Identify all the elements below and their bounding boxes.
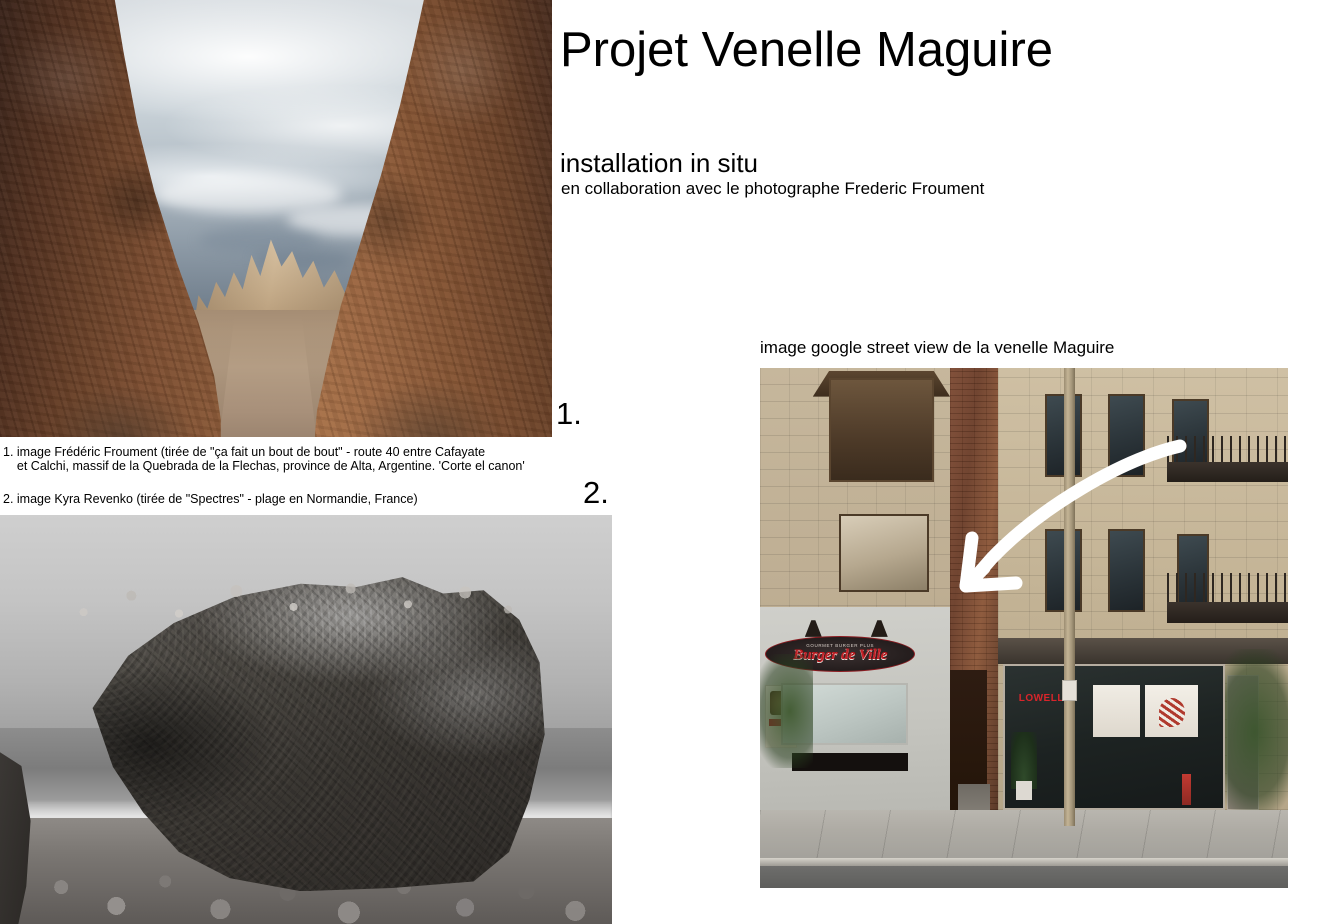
curb xyxy=(760,858,1288,866)
sidewalk-joints xyxy=(760,810,1288,862)
poster-page: 1. 1. image Frédéric Froument (tirée de … xyxy=(0,0,1320,924)
window xyxy=(1108,394,1145,477)
page-subtitle: installation in situ xyxy=(560,148,758,179)
balcony-slab xyxy=(1167,602,1288,623)
figure-2-caption: 2. image Kyra Revenko (tirée de "Spectre… xyxy=(3,492,418,506)
utility-pole xyxy=(1064,368,1076,826)
figure-1-caption: 1. image Frédéric Froument (tirée de "ça… xyxy=(3,445,525,473)
bay-window xyxy=(829,378,935,482)
window-display-panel xyxy=(1093,685,1141,737)
street-tree xyxy=(760,654,813,768)
boulder-crust xyxy=(55,566,532,631)
collaboration-line: en collaboration avec le photographe Fre… xyxy=(561,179,984,199)
artwork-motif xyxy=(1159,698,1185,727)
black-and-white-boulder-photo xyxy=(0,515,612,924)
plant-pot xyxy=(1016,781,1032,799)
google-street-view-photo: GOURMET BURGER PLUS Burger de Ville LOWE… xyxy=(760,368,1288,888)
streetview-label: image google street view de la venelle M… xyxy=(760,338,1114,358)
scree-slope xyxy=(353,380,508,437)
street-asphalt xyxy=(760,866,1288,888)
balcony-railing xyxy=(1167,573,1288,604)
figure-1-marker: 1. xyxy=(556,398,582,429)
page-title: Projet Venelle Maguire xyxy=(560,24,1053,78)
fire-hydrant xyxy=(1182,774,1190,805)
pole-sign xyxy=(1062,680,1077,701)
street-tree xyxy=(1225,649,1288,815)
balcony-slab xyxy=(1167,462,1288,483)
figure-2-marker: 2. xyxy=(583,477,609,508)
canyon-road-photo xyxy=(0,0,552,437)
scree-slope xyxy=(50,385,194,437)
window xyxy=(1108,529,1145,612)
window xyxy=(839,514,929,592)
balcony-railing xyxy=(1167,436,1288,465)
